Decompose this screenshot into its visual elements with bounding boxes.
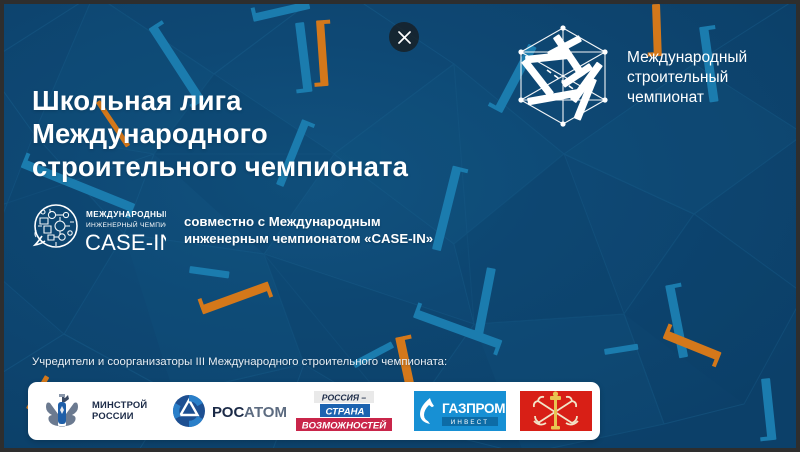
rosatom-text-light: АТОМ <box>244 404 286 421</box>
rosatom-text-bold: РОС <box>212 404 244 421</box>
founder-logo-rsv[interactable]: РОССИЯ – СТРАНА ВОЗМОЖНОСТЕЙ <box>288 382 408 440</box>
rosatom-mark-icon <box>173 395 205 427</box>
minstroy-line-1: МИНСТРОЙ <box>92 399 147 410</box>
championship-line-2: строительный <box>627 68 747 88</box>
casein-brain-icon <box>35 205 77 247</box>
founders-label: Учредители и соорганизаторы III Междунар… <box>32 356 447 368</box>
screenshot-frame: Школьная лига Международного строительно… <box>0 0 800 452</box>
championship-logo-text: Международный строительный чемпионат <box>627 48 747 108</box>
casein-logo-top-line-2: ИНЖЕНЕРНЫЙ ЧЕМПИОНАТ <box>86 220 166 229</box>
gazprom-subtext: ИНВЕСТ <box>451 419 489 426</box>
gazprom-text: ГАЗПРОМ <box>442 401 505 416</box>
founders-logo-bar: МИНСТРОЙ РОССИИ <box>28 382 600 440</box>
casein-joint-text: совместно с Международным инженерным чем… <box>184 213 433 248</box>
founder-logo-saint-petersburg[interactable] <box>512 382 600 440</box>
joint-line-1: совместно с Международным <box>184 213 433 231</box>
championship-line-1: Международный <box>627 48 747 68</box>
close-button[interactable] <box>389 22 419 52</box>
hexagon-wireframe-icon <box>507 22 619 134</box>
casein-logo: МЕЖДУНАРОДНЫЙ ИНЖЕНЕРНЫЙ ЧЕМПИОНАТ CASE-… <box>30 202 166 258</box>
casein-partner-block: МЕЖДУНАРОДНЫЙ ИНЖЕНЕРНЫЙ ЧЕМПИОНАТ CASE-… <box>30 202 433 258</box>
championship-line-3: чемпионат <box>627 88 747 108</box>
rsv-line-2: СТРАНА <box>325 407 364 418</box>
minstroy-line-2: РОССИИ <box>92 410 134 421</box>
headline-line-2: Международного <box>32 117 502 150</box>
close-icon <box>398 31 411 44</box>
promo-banner: Школьная лига Международного строительно… <box>4 4 796 448</box>
championship-logo: Международный строительный чемпионат <box>507 22 747 134</box>
founder-logo-minstroy[interactable]: МИНСТРОЙ РОССИИ <box>28 382 168 440</box>
founder-logo-gazprom-invest[interactable]: ГАЗПРОМ ИНВЕСТ <box>408 382 512 440</box>
headline-line-1: Школьная лига <box>32 84 502 117</box>
headline-line-3: строительного чемпионата <box>32 150 502 183</box>
svg-text:РОСАТОМ: РОСАТОМ <box>212 404 286 421</box>
page-title: Школьная лига Международного строительно… <box>32 84 502 183</box>
joint-line-2: инженерным чемпионатом «CASE-IN» <box>184 230 433 248</box>
casein-logo-top-line-1: МЕЖДУНАРОДНЫЙ <box>86 208 166 219</box>
russian-eagle-icon <box>46 394 78 427</box>
founder-logo-rosatom[interactable]: РОСАТОМ <box>168 382 288 440</box>
rsv-line-1: РОССИЯ – <box>322 393 367 403</box>
rsv-line-3: ВОЗМОЖНОСТЕЙ <box>302 420 388 432</box>
casein-wordmark: CASE-IN <box>85 230 166 255</box>
